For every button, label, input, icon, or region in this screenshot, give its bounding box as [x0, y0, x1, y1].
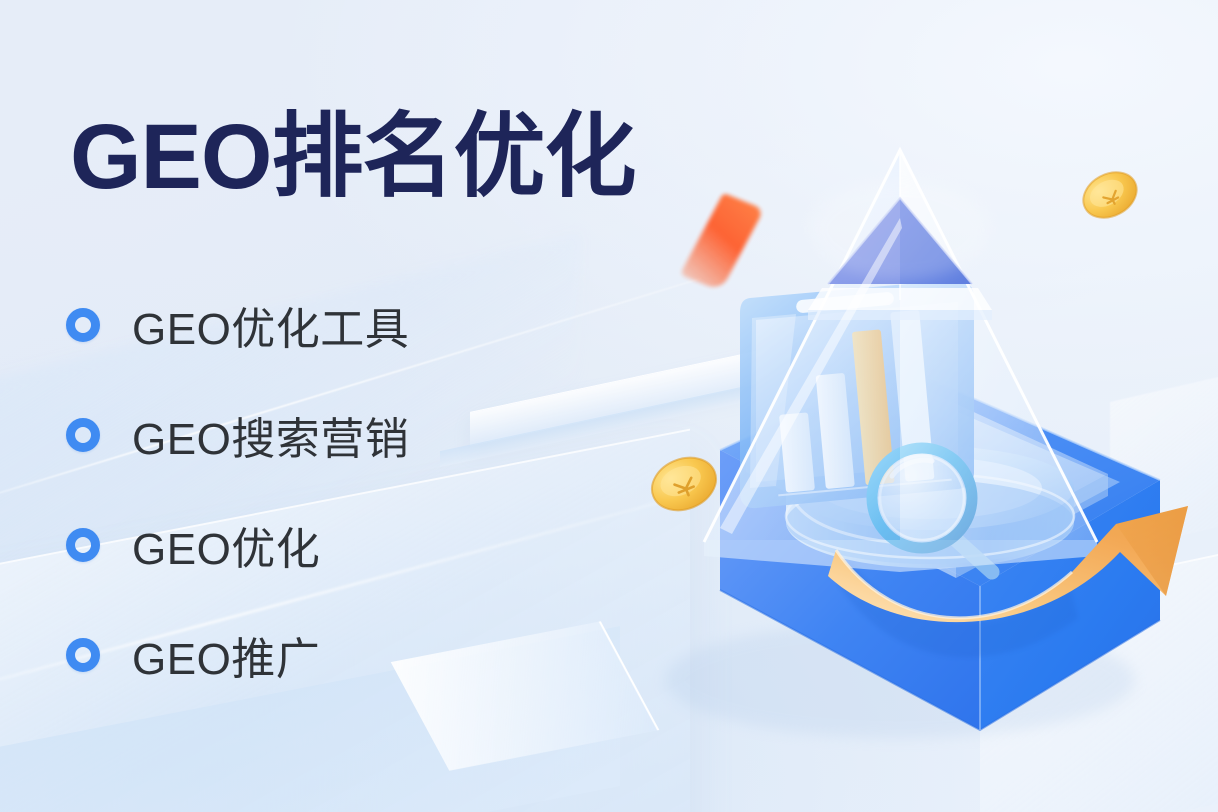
ring-bullet-icon: [66, 528, 100, 562]
keyword-list: GEO优化工具 GEO搜索营销 GEO优化 GEO推广: [66, 286, 409, 694]
list-item-label: GEO推广: [132, 623, 320, 687]
geo-ranking-banner: GEO排名优化 GEO优化工具 GEO搜索营销 GEO优化 GEO推广: [0, 0, 1218, 812]
coin-left: [644, 448, 724, 519]
list-item[interactable]: GEO推广: [66, 616, 409, 694]
top-glow: [810, 180, 990, 280]
coin-top-right: [1075, 163, 1144, 226]
list-item-label: GEO优化工具: [132, 293, 409, 357]
ring-bullet-icon: [66, 308, 100, 342]
geo-ranking-3d-illustration: [600, 120, 1218, 760]
list-item[interactable]: GEO优化: [66, 506, 409, 584]
list-item[interactable]: GEO优化工具: [66, 286, 409, 364]
page-title: GEO排名优化: [70, 108, 636, 207]
list-item-label: GEO搜索营销: [132, 403, 409, 467]
list-item-label: GEO优化: [132, 513, 320, 577]
list-item[interactable]: GEO搜索营销: [66, 396, 409, 474]
ring-bullet-icon: [66, 418, 100, 452]
ring-bullet-icon: [66, 638, 100, 672]
